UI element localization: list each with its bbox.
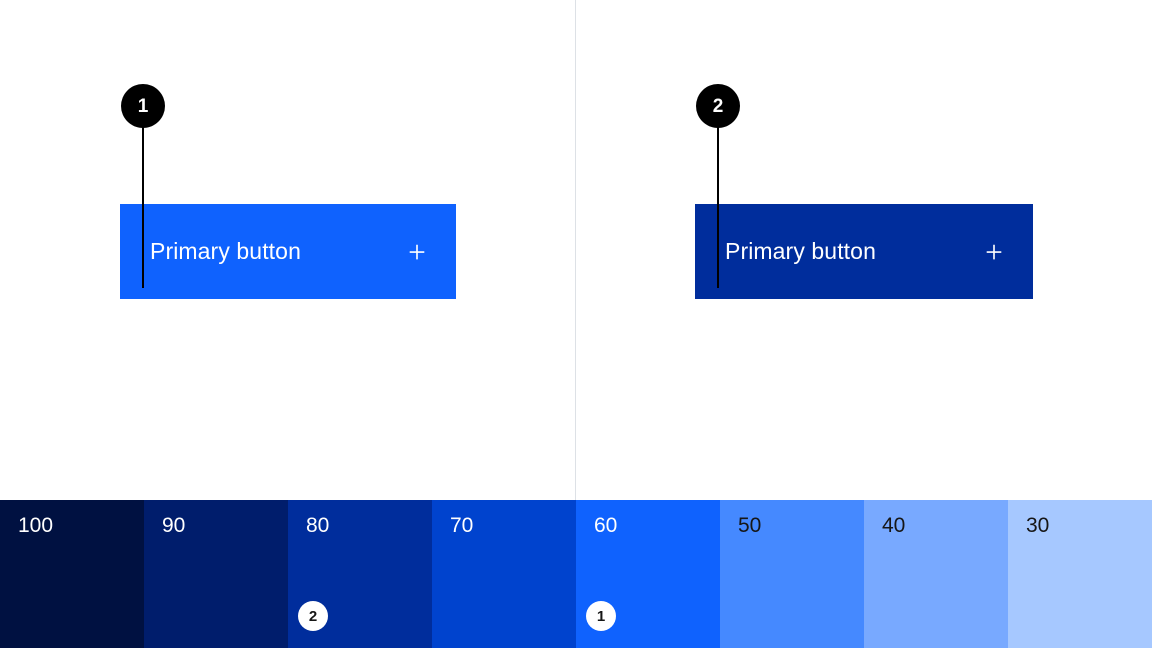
color-palette-strip: 1009080270601504030 — [0, 500, 1152, 648]
swatch-label: 30 — [1026, 515, 1049, 536]
swatch-label: 60 — [594, 515, 617, 536]
callout-badge: 2 — [696, 84, 740, 128]
primary-button-label: Primary button — [150, 240, 301, 263]
swatch-label: 40 — [882, 515, 905, 536]
swatch-label: 100 — [18, 515, 53, 536]
swatch-label: 80 — [306, 515, 329, 536]
callout-leader-line — [717, 106, 719, 288]
swatch-label: 70 — [450, 515, 473, 536]
swatch-blue-100[interactable]: 100 — [0, 500, 144, 648]
swatch-usage-marker: 1 — [586, 601, 616, 631]
primary-button-2[interactable]: Primary button — [695, 204, 1033, 299]
swatch-blue-90[interactable]: 90 — [144, 500, 288, 648]
swatch-blue-50[interactable]: 50 — [720, 500, 864, 648]
swatch-blue-60[interactable]: 601 — [576, 500, 720, 648]
swatch-label: 90 — [162, 515, 185, 536]
primary-button-1[interactable]: Primary button — [120, 204, 456, 299]
plus-icon — [404, 239, 430, 265]
callout-badge: 1 — [121, 84, 165, 128]
plus-icon — [981, 239, 1007, 265]
primary-button-label: Primary button — [725, 240, 876, 263]
swatch-blue-80[interactable]: 802 — [288, 500, 432, 648]
swatch-usage-marker: 2 — [298, 601, 328, 631]
swatch-label: 50 — [738, 515, 761, 536]
callout-leader-line — [142, 106, 144, 288]
swatch-blue-40[interactable]: 40 — [864, 500, 1008, 648]
swatch-blue-70[interactable]: 70 — [432, 500, 576, 648]
swatch-blue-30[interactable]: 30 — [1008, 500, 1152, 648]
color-usage-diagram: 1Primary button2Primary button 100908027… — [0, 0, 1152, 648]
vertical-divider — [575, 0, 576, 500]
